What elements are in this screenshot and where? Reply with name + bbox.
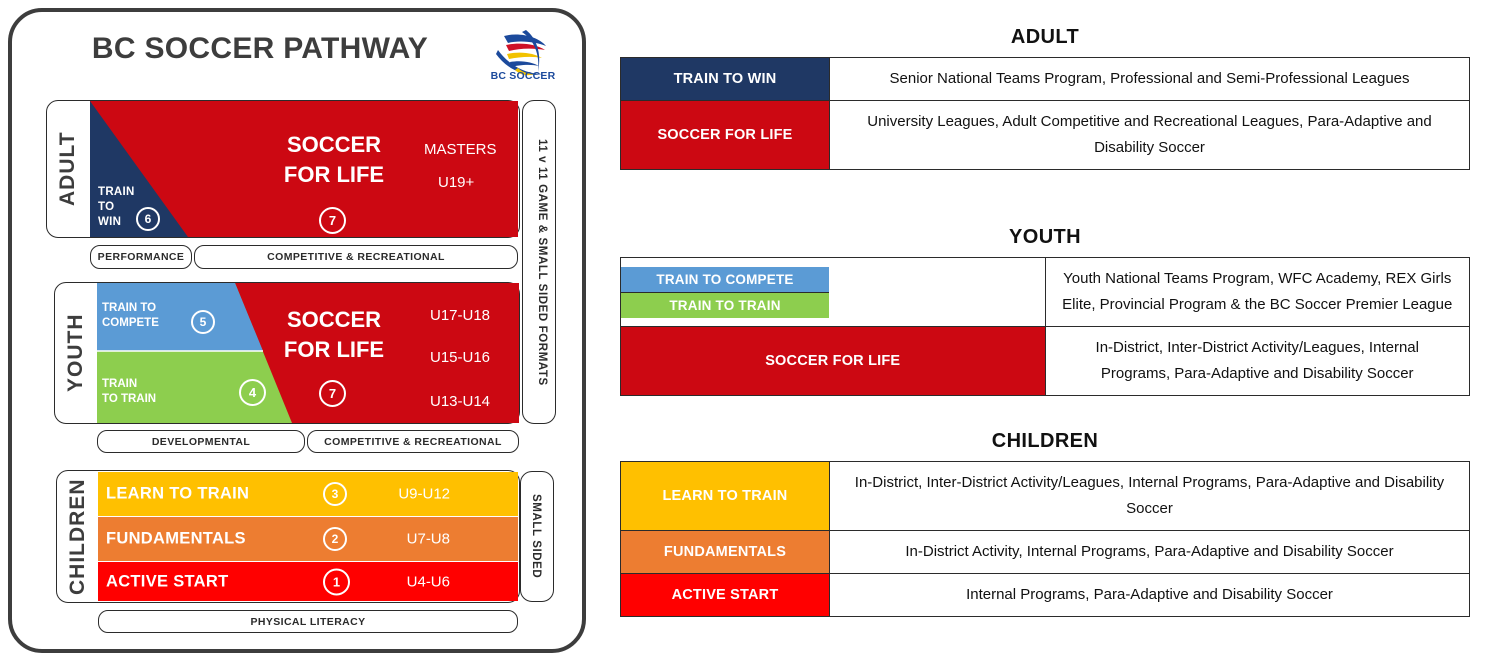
children-band-1-age: U9-U12 [398,486,450,503]
adult-row2-category: SOCCER FOR LIFE [621,101,830,170]
table-row: SOCCER FOR LIFE In-District, Inter-Distr… [621,327,1470,396]
children-band-3-age: U4-U6 [407,573,450,590]
children-table-section: CHILDREN LEARN TO TRAIN In-District, Int… [620,430,1470,617]
adult-footer-performance: PERFORMANCE [90,245,192,269]
youth-row1-category-compete: TRAIN TO COMPETE [621,267,829,293]
format-vertical-label-children-text: SMALL SIDED [521,472,553,601]
adult-ttw-line1: TRAIN [98,185,135,200]
youth-sfl-line1: SOCCER [264,305,404,335]
adult-age-label: ADULT [48,102,88,236]
format-vertical-label-text: 11 v 11 GAME & SMALL SIDED FORMATS [523,101,555,423]
table-row: FUNDAMENTALS In-District Activity, Inter… [621,531,1470,574]
youth-sfl-line2: FOR LIFE [264,335,404,365]
youth-row2-description: In-District, Inter-District Activity/Lea… [1045,327,1470,396]
youth-row2-category: SOCCER FOR LIFE [621,327,1046,396]
children-band-1-number: 3 [323,482,347,506]
youth-age-label: YOUTH [56,284,96,422]
adult-ttw-line2: TO [98,200,135,215]
youth-table-section: YOUTH TRAIN TO COMPETE TRAIN TO TRAIN Yo… [620,226,1470,396]
youth-table-heading: YOUTH [620,226,1470,249]
youth-ttt-line2: TO TRAIN [102,392,156,407]
youth-footer-developmental: DEVELOPMENTAL [97,430,305,453]
youth-row1-description: Youth National Teams Program, WFC Academ… [1045,258,1470,327]
adult-row1-description: Senior National Teams Program, Professio… [830,58,1470,101]
children-band-2-number: 2 [323,527,347,551]
adult-sfl-line2: FOR LIFE [264,160,404,190]
bc-soccer-wordmark: BC SOCCER [482,70,564,82]
children-row2-category: FUNDAMENTALS [621,531,830,574]
table-row: ACTIVE START Internal Programs, Para-Ada… [621,574,1470,617]
children-age-label: CHILDREN [58,472,98,601]
table-row: TRAIN TO COMPETE TRAIN TO TRAIN Youth Na… [621,258,1470,327]
adult-table-section: ADULT TRAIN TO WIN Senior National Teams… [620,26,1470,170]
adult-footer-competitive: COMPETITIVE & RECREATIONAL [194,245,518,269]
youth-ttt-line1: TRAIN [102,377,156,392]
children-row1-category: LEARN TO TRAIN [621,462,830,531]
adult-age-masters: MASTERS [424,141,497,158]
children-footer-physical-literacy: PHYSICAL LITERACY [98,610,518,633]
youth-row1-category-train: TRAIN TO TRAIN [621,293,829,318]
adult-row1-category: TRAIN TO WIN [621,58,830,101]
youth-stage-number-4: 4 [239,379,266,406]
children-row2-description: In-District Activity, Internal Programs,… [830,531,1470,574]
youth-train-to-compete-label: TRAIN TO COMPETE [102,301,159,331]
children-band-3-number: 1 [323,568,350,595]
children-row1-description: In-District, Inter-District Activity/Lea… [830,462,1470,531]
children-band-1-title: LEARN TO TRAIN [106,485,249,504]
adult-ttw-line3: WIN [98,215,135,230]
children-row3-category: ACTIVE START [621,574,830,617]
youth-age-u13-u14: U13-U14 [430,393,490,410]
youth-soccer-for-life-label: SOCCER FOR LIFE [264,305,404,365]
adult-age-u19: U19+ [438,174,474,191]
youth-footer-competitive: COMPETITIVE & RECREATIONAL [307,430,519,453]
youth-train-to-train-label: TRAIN TO TRAIN [102,377,156,407]
youth-age-u17-u18: U17-U18 [430,307,490,324]
children-table-heading: CHILDREN [620,430,1470,453]
youth-stage-number-5: 5 [191,310,215,334]
adult-stage-number-6: 6 [136,207,160,231]
youth-ttc-line2: COMPETE [102,316,159,331]
page-title: BC SOCCER PATHWAY [30,32,490,66]
program-tables-panel: ADULT TRAIN TO WIN Senior National Teams… [620,0,1486,668]
children-band-learn-to-train: LEARN TO TRAIN 3 U9-U12 [98,472,518,516]
table-row: LEARN TO TRAIN In-District, Inter-Distri… [621,462,1470,531]
adult-stage-number-7: 7 [319,207,346,234]
table-row: SOCCER FOR LIFE University Leagues, Adul… [621,101,1470,170]
youth-ttc-line1: TRAIN TO [102,301,159,316]
adult-program-table: TRAIN TO WIN Senior National Teams Progr… [620,57,1470,170]
children-program-table: LEARN TO TRAIN In-District, Inter-Distri… [620,461,1470,617]
adult-train-to-win-label: TRAIN TO WIN [98,185,135,230]
format-vertical-label-adult-youth: 11 v 11 GAME & SMALL SIDED FORMATS [522,100,556,424]
children-band-3-title: ACTIVE START [106,572,228,591]
adult-soccer-for-life-label: SOCCER FOR LIFE [264,130,404,190]
children-band-fundamentals: FUNDAMENTALS 2 U7-U8 [98,517,518,561]
adult-table-heading: ADULT [620,26,1470,49]
adult-row2-description: University Leagues, Adult Competitive an… [830,101,1470,170]
adult-sfl-line1: SOCCER [264,130,404,160]
youth-row1-category-stack: TRAIN TO COMPETE TRAIN TO TRAIN [621,258,1046,327]
youth-age-u15-u16: U15-U16 [430,349,490,366]
children-band-2-title: FUNDAMENTALS [106,530,246,549]
youth-program-table: TRAIN TO COMPETE TRAIN TO TRAIN Youth Na… [620,257,1470,396]
pathway-diagram-panel: BC SOCCER PATHWAY BC SOCCER ADULT [8,8,586,653]
format-vertical-label-children: SMALL SIDED [520,471,554,602]
children-band-active-start: ACTIVE START 1 U4-U6 [98,562,518,601]
children-row3-description: Internal Programs, Para-Adaptive and Dis… [830,574,1470,617]
pathway-header: BC SOCCER PATHWAY BC SOCCER [12,26,582,82]
youth-stage-number-7: 7 [319,380,346,407]
table-row: TRAIN TO WIN Senior National Teams Progr… [621,58,1470,101]
children-band-2-age: U7-U8 [407,531,450,548]
